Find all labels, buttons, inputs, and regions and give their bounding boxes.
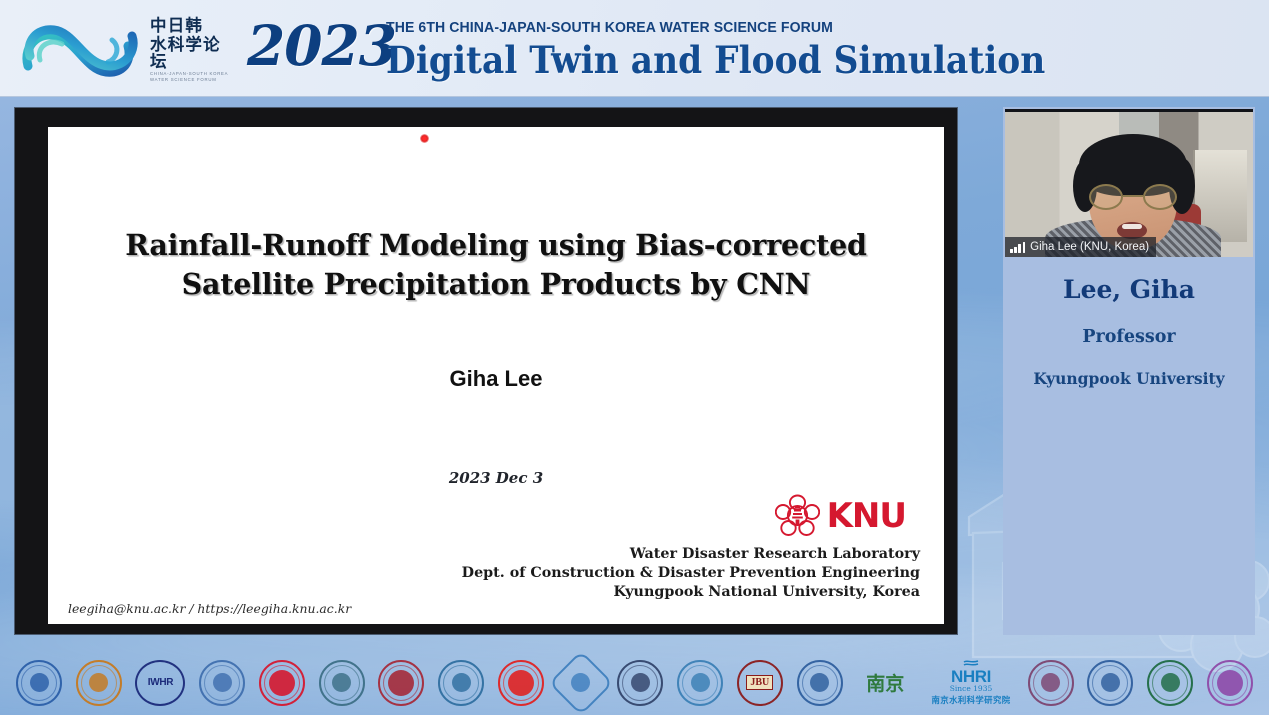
presentation-slide[interactable]: Rainfall-Runoff Modeling using Bias-corr… xyxy=(48,127,944,624)
banner-text-group: THE 6TH CHINA-JAPAN-SOUTH KOREA WATER SC… xyxy=(386,20,1095,82)
org-logo-kyonggi-university xyxy=(677,660,723,706)
affiliation-line2: Dept. of Construction & Disaster Prevent… xyxy=(462,564,920,583)
org-logo-tsinghua-university xyxy=(1147,660,1193,706)
org-logo-iwhr: IWHR xyxy=(135,660,185,706)
org-logo-tianjin-university xyxy=(1087,660,1133,706)
org-logo-kyungpook-national-university xyxy=(259,660,305,706)
slide-date: 2023 Dec 3 xyxy=(48,469,944,487)
affiliation-lines: Water Disaster Research Laboratory Dept.… xyxy=(462,545,920,602)
speaker-name: Lee, Giha xyxy=(1003,275,1255,304)
speaker-video-tile[interactable]: Giha Lee (KNU, Korea) xyxy=(1005,109,1253,257)
slide-author: Giha Lee xyxy=(48,366,944,392)
banner-subtitle: THE 6TH CHINA-JAPAN-SOUTH KOREA WATER SC… xyxy=(386,20,1074,36)
slide-title-line2: Satellite Precipitation Products by CNN xyxy=(48,265,944,304)
slide-title-line1: Rainfall-Runoff Modeling using Bias-corr… xyxy=(48,226,944,265)
forum-logo-cn-line1: 中日韩 xyxy=(150,18,228,35)
org-logo-hohai-university xyxy=(16,660,62,706)
shared-screen-frame[interactable]: Rainfall-Runoff Modeling using Bias-corr… xyxy=(14,107,958,635)
knu-logo: KNU xyxy=(775,493,906,538)
speaker-organization: Kyungpook University xyxy=(1003,369,1255,388)
video-label-text: Giha Lee (KNU, Korea) xyxy=(1030,241,1149,253)
slide-title: Rainfall-Runoff Modeling using Bias-corr… xyxy=(48,226,944,304)
laser-pointer-dot xyxy=(420,134,429,143)
forum-logo-cn-line2: 水科学论坛 xyxy=(150,37,228,71)
org-logo-green-wordmark-org: 南京 xyxy=(856,660,914,706)
org-logo-hannam-university xyxy=(617,660,663,706)
glasses-icon xyxy=(1085,184,1181,210)
org-logo-kyoto-university xyxy=(319,660,365,706)
affiliation-line3: Kyungpook National University, Korea xyxy=(462,583,920,602)
org-logo-korea-institute xyxy=(438,660,484,706)
affiliation-line1: Water Disaster Research Laboratory xyxy=(462,545,920,564)
org-logo-peking-university xyxy=(378,660,424,706)
org-logo-chungnam-national-university xyxy=(199,660,245,706)
slide-affiliation-block: KNU Water Disaster Research Laboratory D… xyxy=(462,493,920,602)
sponsor-logo-strip: IWHRJBU南京NHRISince 1935南京水利科学研究院 xyxy=(0,650,1269,715)
banner-main-title: Digital Twin and Flood Simulation xyxy=(386,38,1045,82)
org-logo-wuhan-university xyxy=(1028,660,1074,706)
org-logo-violet-university xyxy=(1207,660,1253,706)
video-name-label: Giha Lee (KNU, Korea) xyxy=(1005,237,1156,257)
forum-logo-en-line2: WATER SCIENCE FORUM xyxy=(150,78,228,82)
org-logo-joongbu-university: JBU xyxy=(737,660,783,706)
org-logo-inha-university xyxy=(797,660,843,706)
forum-logo: 中日韩 水科学论坛 CHINA-JAPAN-SOUTH KOREA WATER … xyxy=(16,14,228,84)
speaker-panel: Giha Lee (KNU, Korea) Lee, Giha Professo… xyxy=(1003,107,1255,635)
org-logo-seal-university xyxy=(558,660,604,706)
slide-contact-line: leegiha@knu.ac.kr / https://leegiha.knu.… xyxy=(68,601,351,616)
infinity-swoosh-icon xyxy=(16,14,144,84)
knu-blossom-icon xyxy=(775,493,820,538)
signal-strength-icon xyxy=(1010,242,1025,253)
knu-wordmark: KNU xyxy=(827,499,906,533)
speaker-role: Professor xyxy=(1003,327,1255,347)
org-logo-nhri: NHRISince 1935南京水利科学研究院 xyxy=(928,660,1014,706)
stream-viewport: 中日韩 水科学论坛 CHINA-JAPAN-SOUTH KOREA WATER … xyxy=(0,0,1269,715)
banner-year: 2023 xyxy=(247,17,396,75)
org-logo-dankook-university xyxy=(498,660,544,706)
forum-header-banner: 中日韩 水科学论坛 CHINA-JAPAN-SOUTH KOREA WATER … xyxy=(0,0,1269,97)
org-logo-china-water-org xyxy=(76,660,122,706)
